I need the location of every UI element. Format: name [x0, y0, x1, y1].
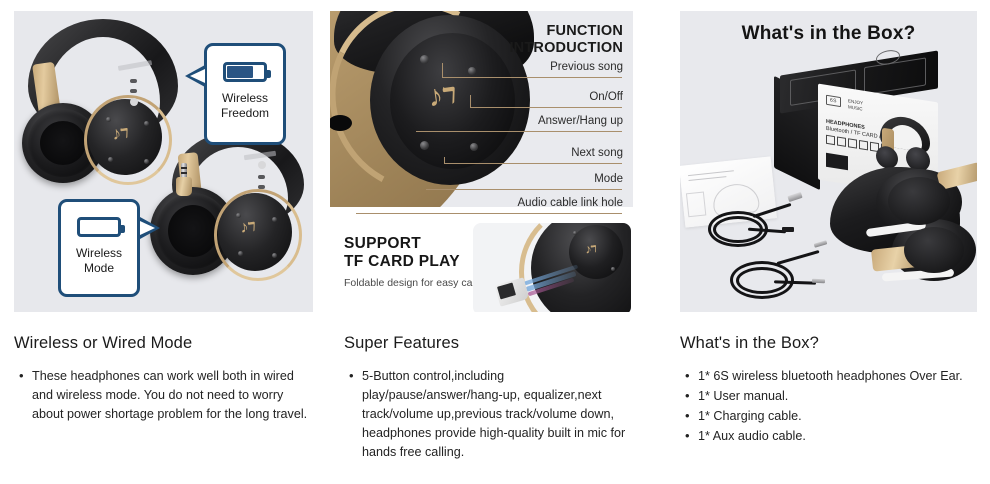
brand-mark: ♪ﬧ: [111, 122, 130, 145]
bullet-list: 5-Button control,including play/pause/an…: [344, 367, 644, 462]
bullet-list: These headphones can work well both in w…: [14, 367, 314, 424]
callout-wireless-mode: Wireless Mode: [58, 199, 140, 297]
callout-wireless-freedom: Wireless Freedom: [204, 43, 286, 145]
battery-icon-full: [223, 62, 267, 82]
copy-block-whats-in-the-box: What's in the Box? 1* 6S wireless blueto…: [680, 333, 976, 447]
support-title-line2: TF CARD PLAY: [344, 253, 460, 271]
leader-line-answer-hang-up: [416, 131, 622, 132]
panel-wireless-or-wired: ♪ﬧ: [0, 0, 330, 484]
panel-heading: Wireless or Wired Mode: [14, 333, 314, 353]
leader-tick: [442, 63, 443, 77]
leader-line-mode: [426, 189, 622, 190]
callout-line-1: Wireless: [207, 91, 283, 106]
hero-image-box-contents: What's in the Box? 6S ENJOY: [680, 11, 977, 312]
list-item: 1* Aux audio cable.: [698, 427, 976, 446]
function-label-previous-song: Previous song: [550, 61, 623, 73]
list-item: These headphones can work well both in w…: [32, 367, 314, 424]
function-intro-title-line1: FUNCTION: [509, 23, 623, 40]
panel-heading: What's in the Box?: [680, 333, 976, 353]
leader-line-audio-cable-link-hole: [356, 213, 622, 214]
panel-heading: Super Features: [344, 333, 644, 353]
copy-block-wireless-or-wired: Wireless or Wired Mode These headphones …: [14, 333, 314, 425]
panel-columns: ♪ﬧ: [0, 0, 990, 484]
brand-mark: ♪ﬧ: [239, 216, 256, 238]
function-label-audio-cable-link-hole: Audio cable link hole: [518, 197, 624, 209]
function-label-next-song: Next song: [571, 147, 623, 159]
battery-icon-empty: [77, 217, 121, 237]
support-title-line1: SUPPORT: [344, 235, 460, 253]
tf-card-icon: [495, 277, 530, 306]
list-item: 1* 6S wireless bluetooth headphones Over…: [698, 367, 976, 386]
bullet-list: 1* 6S wireless bluetooth headphones Over…: [680, 367, 976, 446]
panel-whats-in-the-box: What's in the Box? 6S ENJOY: [660, 0, 990, 484]
callout-line-2: Mode: [61, 261, 137, 276]
panel-super-features: ♪ﬧ FUNCTION INTRODUCTION Previous song O…: [330, 0, 660, 484]
copy-block-super-features: Super Features 5-Button control,includin…: [344, 333, 644, 463]
tf-card-inset-image: ♪ﬧ: [473, 223, 631, 312]
hero-image-wireless-modes: ♪ﬧ: [14, 11, 313, 312]
support-title: SUPPORT TF CARD PLAY: [344, 235, 460, 271]
list-item: 1* User manual.: [698, 387, 976, 406]
function-label-on-off: On/Off: [589, 91, 623, 103]
package-badge-sub-2: MUSIC: [848, 104, 863, 112]
aux-plug-a: [814, 240, 828, 247]
function-intro-title-line2: INTRODUCTION: [509, 40, 623, 57]
package-badge-code: 6S: [830, 97, 837, 104]
callout-line-1: Wireless: [61, 246, 137, 261]
function-intro-title: FUNCTION INTRODUCTION: [509, 23, 623, 57]
leader-line-next-song: [444, 163, 622, 164]
support-subtitle: Foldable design for easy carry.: [344, 277, 487, 289]
hero-image-function-introduction: ♪ﬧ FUNCTION INTRODUCTION Previous song O…: [330, 11, 633, 312]
image-title-whats-in-the-box: What's in the Box?: [680, 23, 977, 45]
audio-jack-plug: [170, 163, 198, 196]
product-feature-page: ♪ﬧ: [0, 0, 990, 484]
function-label-answer-hang-up: Answer/Hang up: [538, 115, 623, 127]
folded-headphones: [830, 161, 977, 301]
function-label-mode: Mode: [594, 173, 623, 185]
callout-line-2: Freedom: [207, 106, 283, 121]
brand-mark: ♪ﬧ: [584, 240, 597, 257]
aux-plug-b: [812, 279, 825, 283]
headphone-earcup-closeup: ♪ﬧ: [330, 11, 529, 218]
leader-line-previous-song: [442, 77, 622, 78]
leader-line-on-off: [470, 107, 622, 108]
leader-tick: [470, 95, 471, 107]
list-item: 1* Charging cable.: [698, 407, 976, 426]
leader-tick: [444, 157, 445, 163]
list-item: 5-Button control,including play/pause/an…: [362, 367, 644, 462]
package-badge: 6S: [826, 95, 841, 107]
brand-mark: ♪ﬧ: [426, 77, 458, 115]
